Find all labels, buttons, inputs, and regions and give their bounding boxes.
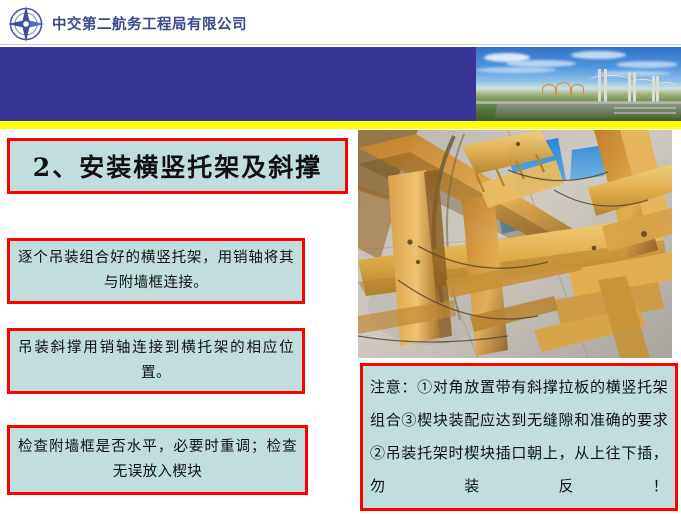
step-text-1: 逐个吊装组合好的横竖托架，用销轴将其与附墙框连接。 [18,246,294,296]
photo-watermark [614,107,676,117]
step-box-1: 逐个吊装组合好的横竖托架，用销轴将其与附墙框连接。 [7,238,305,304]
caution-note-text: 注意：①对角放置带有斜撑拉板的横竖托架组合③楔块装配应达到无缝隙和准确的要求②吊… [370,371,668,503]
step-box-2: 吊装斜撑用销轴连接到横托架的相应位置。 [7,328,305,394]
steel-bracket-scaffold-photo [358,130,672,358]
compass-star-logo-icon [6,4,46,44]
bridge-landscape-photo [476,47,681,121]
step-text-2: 吊装斜撑用销轴连接到横托架的相应位置。 [18,336,294,386]
header-divider [0,44,681,45]
step-box-3: 检查附墙框是否水平，必要时重调；检查无误放入楔块 [7,425,308,495]
page-header: 中交第二航务工程局有限公司 [0,0,681,47]
caution-note-box: 注意：①对角放置带有斜撑拉板的横竖托架组合③楔块装配应达到无缝隙和准确的要求②吊… [360,363,678,511]
banner-accent-strip [0,121,681,129]
step-text-3: 检查附墙框是否水平，必要时重调；检查无误放入楔块 [18,435,297,485]
title-banner [0,47,681,121]
slide-title-box: 2、安装横竖托架及斜撑 [7,138,348,194]
company-name: 中交第二航务工程局有限公司 [52,13,247,34]
page-title: 2、安装横竖托架及斜撑 [33,148,322,184]
